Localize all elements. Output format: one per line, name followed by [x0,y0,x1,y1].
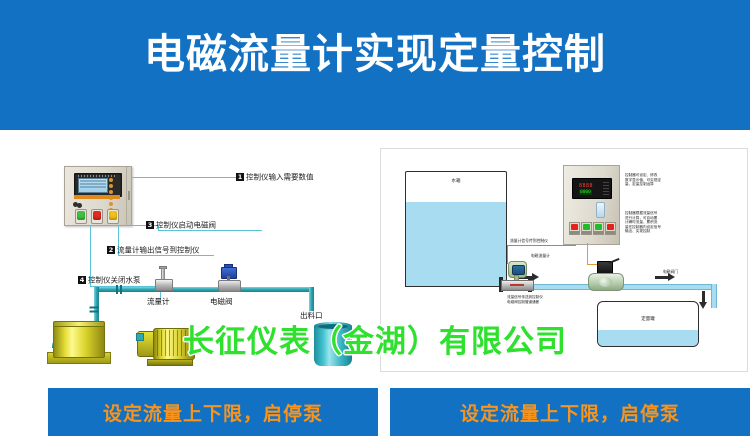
annotation-2: 2流量计输出信号到控制仪 [107,245,200,255]
pump-motor-fins [157,330,189,356]
cabinet-button-row [569,222,615,235]
flowmeter-display-window [512,265,525,275]
tank-drum [53,322,105,358]
bucket-inner [318,324,348,329]
pump-base [147,359,193,366]
footer-banner-right: 设定流量上下限，启停泵 [390,388,750,436]
flowmeter-body [155,279,173,291]
start-button[interactable] [581,222,592,235]
right-note-top: 控制器可设定、修改 数字显示值、可实现定 量、定量控制运算 [625,173,661,187]
callout-line-1 [131,177,238,178]
green-lamp[interactable] [75,209,87,224]
right-receiving-tank: 定量罐 [597,301,699,347]
right-valve-label: 电磁阀门 [663,269,678,275]
water-pump[interactable] [137,326,199,366]
annotation-1-text: 控制仪输入需要数值 [246,173,314,182]
lcd-keypad[interactable] [108,177,119,193]
annotation-1: 1控制仪输入需要数值 [236,172,314,182]
pipe-discharge-vertical [309,287,314,311]
right-flowmeter-device[interactable] [499,261,533,295]
right-solenoid-valve[interactable] [588,261,622,293]
right-control-cabinet[interactable]: 8888 0000 [563,165,620,245]
yellow-lamp[interactable] [107,209,119,224]
receiving-tank-label: 定量罐 [598,316,698,322]
discharge-bucket [314,322,352,366]
pipe-top-horizontal [94,287,314,292]
solenoid-valve-device[interactable] [216,264,242,292]
pump-inlet [136,333,144,341]
lcd-screen [78,178,108,193]
right-valve-arm [609,258,620,264]
footer-area: 设定流量上下限，启停泵 设定流量上下限，启停泵 [0,388,750,436]
receiving-tank-water [598,330,698,346]
digital-meter-display: 8888 0000 [572,178,612,199]
solenoid-valve-body [218,280,241,292]
flowmeter-device[interactable] [152,266,174,292]
annotation-4-text: 控制仪关闭水泵 [88,276,141,285]
flowmeter-tube [501,280,534,291]
right-tank-water [406,202,506,286]
stop-button[interactable] [569,222,580,235]
header-banner: 电磁流量计实现定量控制 [0,0,750,130]
right-note-bottom: 控制器根据流量信号 进行计算，可自动累 计瞬时流量、累积流 量在控制器内设定信号… [625,211,661,234]
flowmeter-signal-label: 流量计信号传到控制仪 [510,238,548,244]
right-process-diagram: 水箱 流量信号传送到控制仪 电磁阀控制管道通断 8888 0000 [380,148,748,372]
right-supply-tank: 水箱 [405,171,507,287]
annotation-3-text: 控制仪启动电磁阀 [156,221,216,230]
annotation-2-badge: 2 [107,246,115,254]
tank-lid [53,321,105,327]
flow-arrow-down [699,291,708,310]
cabinet-toggle-switch[interactable] [596,202,605,218]
cabinet-door-seam [126,167,127,225]
solenoid-valve-label: 电磁阀 [210,296,233,307]
right-tank-label: 水箱 [406,178,506,184]
cabinet-knob[interactable] [73,202,83,209]
page-title: 电磁流量计实现定量控制 [0,28,750,80]
page-root: 电磁流量计实现定量控制 [0,0,750,436]
annotation-3: 3控制仪启动电磁阀 [146,220,216,230]
discharge-port-label: 出料口 [300,310,323,321]
callout-line-2a [118,255,214,256]
flange-1 [116,285,124,294]
run-button[interactable] [593,222,604,235]
right-flowmeter-label: 电磁流量计 [531,253,550,259]
annotation-1-badge: 1 [236,173,244,181]
controller-lcd-panel [74,173,122,197]
meter-side-keys[interactable] [603,182,609,195]
meter-green-value: 0000 [579,190,592,195]
right-drop-pipe [711,284,717,308]
red-lamp[interactable] [91,209,103,224]
diagram-stage: 1控制仪输入需要数值 3控制仪启动电磁阀 2流量计输出信号到控制仪 4控制仪关闭… [0,130,750,388]
annotation-4-badge: 4 [78,276,86,284]
annotation-4: 4控制仪关闭水泵 [78,275,141,285]
right-valve-body [588,273,624,291]
bucket-body [314,326,352,366]
alarm-button[interactable] [605,222,616,235]
left-control-cabinet[interactable] [64,166,132,226]
footer-banner-left: 设定流量上下限，启停泵 [48,388,378,436]
callout-line-3c [158,230,262,231]
source-tank [47,322,109,364]
cabinet-indicator-lights [73,209,123,223]
meter-red-value: 8888 [579,183,593,189]
cabinet-handle[interactable] [128,191,130,200]
cabinet-orange-strip [74,195,120,199]
flowmeter-label: 流量计 [147,296,170,307]
annotation-2-text: 流量计输出信号到控制仪 [117,246,200,255]
pipe-note-text: 流量信号传送到控制仪 电磁阀控制管道通断 [507,295,543,304]
annotation-3-badge: 3 [146,221,154,229]
flange-valve-riser [90,307,99,315]
left-process-diagram: 1控制仪输入需要数值 3控制仪启动电磁阀 2流量计输出信号到控制仪 4控制仪关闭… [0,130,380,388]
